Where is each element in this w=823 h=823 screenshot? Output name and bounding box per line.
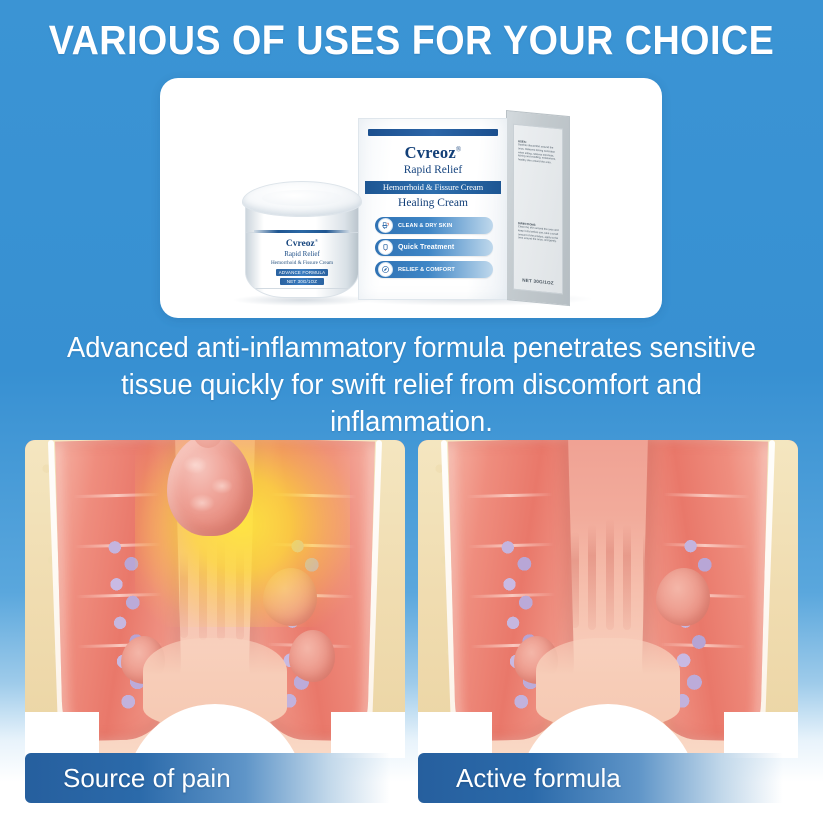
jar-lid xyxy=(242,181,362,217)
carton-badge-label: RELIEF & COMFORT xyxy=(398,267,455,273)
hemorrhoid-nodule xyxy=(167,440,253,536)
carton-side-panel: USES: Soothes discomfort around the anus… xyxy=(506,110,570,306)
toilet-icon xyxy=(378,218,393,233)
skin-fold-right-upper xyxy=(656,568,710,626)
caption-label: Source of pain xyxy=(63,763,231,794)
carton-product-banner: Hemorrhoid & Fissure Cream xyxy=(365,181,501,194)
carton-directions-block: DIRECTIONS: Clean the skin around the ar… xyxy=(518,221,559,244)
skin-tag-right-lower xyxy=(289,630,335,682)
carton-badge-quick-treatment: Quick Treatment xyxy=(375,239,493,256)
carton-badge-relief-comfort: RELIEF & COMFORT xyxy=(375,261,493,278)
jar-brand-name: Cvreoz® xyxy=(246,238,358,249)
ruga-fold xyxy=(588,524,596,630)
jar-label: Cvreoz® Rapid Relief Hemorrhoid & Fissur… xyxy=(246,232,358,289)
page-headline: VARIOUS OF USES FOR YOUR CHOICE xyxy=(33,18,790,63)
carton-brand-name: Cvreoz® xyxy=(359,143,507,163)
carton-badge-clean-dry-skin: CLEAN & DRY SKIN xyxy=(375,217,493,234)
anatomy-panel-source-of-pain xyxy=(25,440,405,758)
carton-directions-text: Clean the skin around the area and keep … xyxy=(518,225,559,243)
carton-trademark-icon: ® xyxy=(456,146,462,154)
product-carton: USES: Soothes discomfort around the anus… xyxy=(358,110,573,300)
jar-label-accent-bar xyxy=(254,230,350,233)
bottom-cutout-right xyxy=(724,712,798,758)
ruga-fold xyxy=(606,518,614,630)
bottom-cutout-right xyxy=(331,712,405,758)
carton-uses-block: USES: Soothes discomfort around the anus… xyxy=(518,139,559,166)
carton-side-inner: USES: Soothes discomfort around the anus… xyxy=(513,124,563,295)
jar-formula-chip: ADVANCE FORMULA xyxy=(276,269,328,276)
bottom-cutout-left xyxy=(418,712,492,758)
product-showcase-card: USES: Soothes discomfort around the anus… xyxy=(160,78,662,318)
jar-tagline: Rapid Relief xyxy=(246,250,358,258)
jar-brand-text: Cvreoz xyxy=(286,239,315,249)
carton-badge-list: CLEAN & DRY SKIN Quick Treatment xyxy=(375,217,493,283)
caption-bar-source-of-pain: Source of pain xyxy=(25,753,405,803)
product-description: Advanced anti-inflammatory formula penet… xyxy=(63,330,761,441)
jar-net-weight-chip: NET 30G/1OZ xyxy=(280,278,324,285)
carton-front-panel: Cvreoz® Rapid Relief Hemorrhoid & Fissur… xyxy=(358,118,507,300)
ruga-fold xyxy=(623,524,631,630)
anatomy-illustration-healthy xyxy=(418,440,798,758)
anatomy-panel-active-formula xyxy=(418,440,798,758)
caption-label: Active formula xyxy=(456,763,621,794)
carton-subtitle: Healing Cream xyxy=(359,197,507,209)
caption-bar-active-formula: Active formula xyxy=(418,753,798,803)
bottom-cutout-left xyxy=(25,712,99,758)
carton-tagline: Rapid Relief xyxy=(359,164,507,176)
jar-subtitle: Hemorrhoid & Fissure Cream xyxy=(246,260,358,266)
carton-net-weight: NET 30G/1OZ xyxy=(514,277,562,287)
anatomy-illustration-inflamed xyxy=(25,440,405,758)
carton-badge-label: Quick Treatment xyxy=(398,244,454,251)
comparison-panels xyxy=(25,440,798,758)
carton-top-accent-bar xyxy=(368,129,498,136)
carton-badge-label: CLEAN & DRY SKIN xyxy=(398,223,452,229)
leaf-icon xyxy=(378,262,393,277)
tube-icon xyxy=(378,240,393,255)
jar-trademark-icon: ® xyxy=(315,238,318,243)
product-jar: Cvreoz® Rapid Relief Hemorrhoid & Fissur… xyxy=(242,181,360,299)
promo-canvas: VARIOUS OF USES FOR YOUR CHOICE USES: So… xyxy=(0,0,823,823)
carton-uses-text: Soothes discomfort around the anus. Reli… xyxy=(518,143,556,164)
carton-brand-text: Cvreoz xyxy=(405,143,456,162)
